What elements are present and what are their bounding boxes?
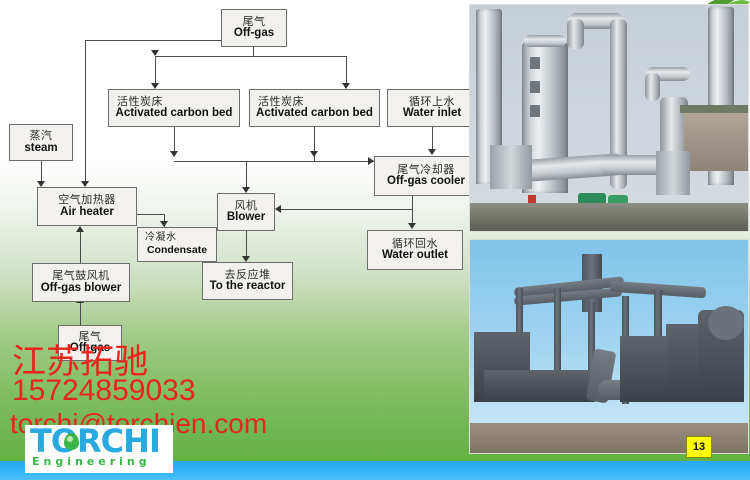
arrowhead-bus-junction [151, 50, 159, 56]
edge-to-blower-v [246, 161, 247, 187]
edge-waterinlet-down [432, 127, 433, 150]
node-offgas-blower-en: Off-gas blower [41, 283, 122, 295]
tower-platform-3 [530, 105, 540, 117]
node-offgas-cooler-en: Off-gas cooler [387, 176, 465, 188]
node-blower[interactable]: 风机 Blower [217, 193, 275, 231]
node-carbon-bed-right-en: Activated carbon bed [256, 108, 373, 120]
node-offgas-top[interactable]: 尾气 Off-gas [221, 9, 287, 47]
node-to-reactor-cn: 去反应堆 [225, 269, 271, 280]
edge-blower-to-reactor [246, 231, 247, 258]
node-water-inlet-en: Water inlet [403, 108, 461, 120]
node-air-heater-en: Air heater [60, 207, 114, 219]
edge-offgas-to-carbonbed-left [155, 56, 156, 83]
watermark-phone: 15724859033 [12, 374, 196, 408]
edge-cooler-to-blower-h [281, 209, 413, 210]
node-air-heater[interactable]: 空气加热器 Air heater [37, 187, 137, 226]
slide-canvas: 尾气 Off-gas 活性炭床 Activated carbon bed 活性炭… [0, 0, 750, 480]
edge-airheater-to-condensate-h [137, 214, 164, 215]
duct-arch-left-leg [567, 19, 584, 49]
node-offgas-blower[interactable]: 尾气鼓风机 Off-gas blower [32, 263, 130, 302]
photo-top-ground [470, 203, 748, 231]
arrowhead-cooler-waterinlet [428, 149, 436, 155]
plant-center-block [620, 336, 668, 402]
tower-main-cap [524, 35, 566, 47]
node-water-inlet[interactable]: 循环上水 Water inlet [387, 89, 477, 127]
equipment-box-left [490, 145, 532, 189]
page-number-badge: 13 [686, 436, 712, 458]
node-condensate-en: Condensate [147, 245, 207, 256]
node-offgas-blower-cn: 尾气鼓风机 [52, 270, 110, 281]
node-blower-cn: 风机 [235, 200, 258, 211]
logo-tagline: Engineering [32, 455, 168, 468]
node-condensate[interactable]: 冷凝水 Condensate [137, 227, 217, 262]
node-steam-en: steam [24, 143, 57, 155]
node-offgas-top-cn: 尾气 [243, 16, 266, 27]
arrowhead-carbonbed-right-down [310, 151, 318, 157]
arrowhead-wateroutlet [408, 223, 416, 229]
node-offgas-cooler[interactable]: 尾气冷却器 Off-gas cooler [374, 156, 478, 196]
edge-offgas-stub [253, 47, 254, 56]
node-carbon-bed-right-cn: 活性炭床 [258, 96, 304, 107]
edge-offgas-bus [155, 56, 347, 57]
node-steam[interactable]: 蒸汽 steam [9, 124, 73, 161]
edge-offgasblower-to-airheater [80, 231, 81, 263]
node-water-outlet-cn: 循环回水 [392, 238, 438, 249]
background-building-roof [680, 105, 749, 113]
node-carbon-bed-left-en: Activated carbon bed [116, 108, 233, 120]
node-carbon-bed-left[interactable]: 活性炭床 Activated carbon bed [108, 89, 240, 127]
edge-steam-down [41, 161, 42, 182]
plant-drum-right [708, 306, 744, 340]
node-offgas-top-en: Off-gas [234, 28, 274, 40]
arrowhead-air-heater-bottom [76, 226, 84, 232]
node-air-heater-cn: 空气加热器 [58, 194, 116, 205]
node-to-reactor-en: To the reactor [210, 281, 286, 293]
arrowhead-blower-right [275, 205, 281, 213]
node-blower-en: Blower [227, 212, 265, 224]
edge-left-to-cooler-h [174, 161, 374, 162]
node-offgas-cooler-cn: 尾气冷却器 [397, 164, 455, 175]
edge-offgas-left-branch-v [85, 40, 86, 181]
photo-treatment-plant [469, 239, 749, 454]
node-water-inlet-cn: 循环上水 [409, 96, 455, 107]
node-water-outlet-en: Water outlet [382, 250, 448, 262]
node-steam-cn: 蒸汽 [30, 130, 53, 141]
duct-arch2-left-leg [645, 73, 660, 101]
equipment-box-right [656, 151, 690, 195]
node-condensate-cn: 冷凝水 [145, 233, 177, 243]
edge-offgas-to-carbonbed-right [346, 56, 347, 83]
node-carbon-bed-left-cn: 活性炭床 [117, 96, 163, 107]
photo-scrubber-towers [469, 4, 749, 232]
company-logo: TORCHI Engineering [25, 425, 173, 473]
edge-offgas-left-branch-h [85, 40, 223, 41]
arrowhead-carbonbed-left-down [170, 151, 178, 157]
tower-platform-1 [530, 57, 540, 69]
edge-cooler-to-wateroutlet [412, 196, 413, 224]
water-droplet-icon [64, 433, 79, 450]
node-carbon-bed-right[interactable]: 活性炭床 Activated carbon bed [249, 89, 380, 127]
tower-platform-2 [530, 81, 540, 93]
background-building [684, 109, 748, 171]
node-water-outlet[interactable]: 循环回水 Water outlet [367, 230, 463, 270]
logo-wordmark: TORCHI [30, 425, 170, 457]
node-to-reactor[interactable]: 去反应堆 To the reactor [202, 262, 293, 300]
plant-base-left [484, 370, 594, 402]
